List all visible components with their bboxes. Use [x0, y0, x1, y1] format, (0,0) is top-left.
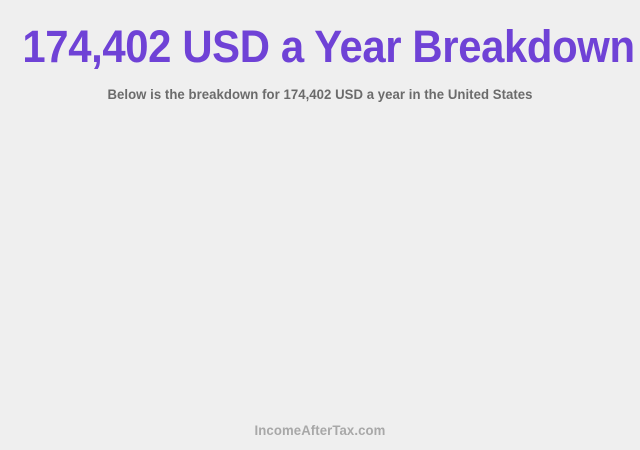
income-breakdown-page: 174,402 USD a Year Breakdown Below is th… — [0, 0, 640, 450]
page-title: 174,402 USD a Year Breakdown — [22, 24, 617, 70]
breakdown-content-area — [0, 115, 640, 410]
site-watermark: IncomeAfterTax.com — [19, 422, 621, 439]
page-subtitle: Below is the breakdown for 174,402 USD a… — [19, 86, 621, 103]
